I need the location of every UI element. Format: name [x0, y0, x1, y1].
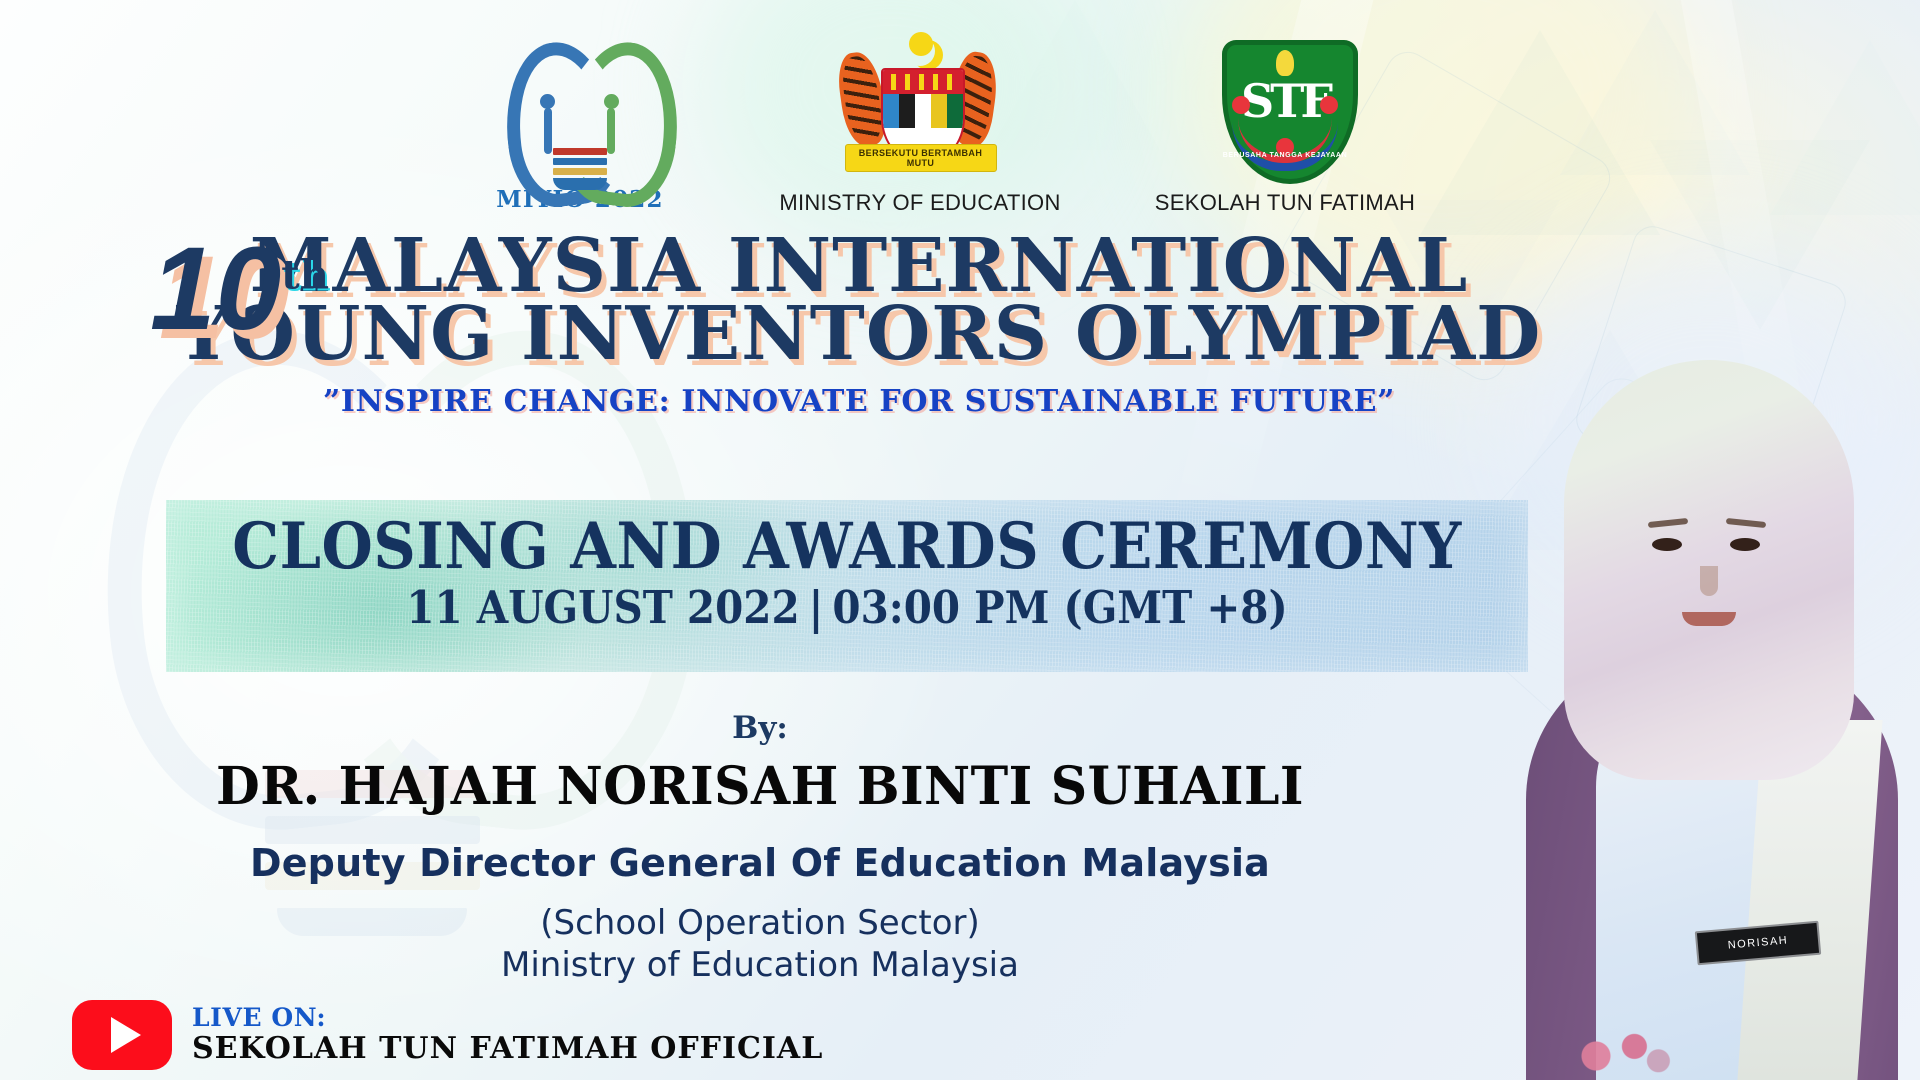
speaker-block: By: DR. HAJAH NORISAH BINTI SUHAILI Depu…	[0, 710, 1520, 985]
person-body-left	[544, 108, 552, 154]
edition-ordinal: 10th	[150, 230, 329, 348]
portrait-eye-right	[1730, 538, 1760, 551]
person-body-right	[607, 108, 615, 154]
crest-ribbon: BERSEKUTU BERTAMBAH MUTU	[845, 144, 997, 172]
play-triangle	[111, 1017, 141, 1053]
stf-flower-right	[1320, 96, 1338, 114]
person-head-right	[604, 94, 619, 109]
portrait-nametag-text: NORISAH	[1727, 934, 1788, 951]
crest-shield-bands	[883, 94, 963, 128]
crest-ribbon-text: BERSEKUTU BERTAMBAH MUTU	[846, 148, 996, 168]
edition-number: 10	[150, 223, 281, 355]
title-line-1: MALAYSIA INTERNATIONAL	[118, 232, 1600, 300]
speaker-by-label: By:	[0, 710, 1520, 746]
portrait-eye-left	[1652, 538, 1682, 551]
miyio-bulb-people-icon	[500, 36, 660, 186]
stf-flower-left	[1232, 96, 1250, 114]
stf-motto: BERUSAHA TANGGA KEJAYAAN	[1210, 152, 1360, 159]
stf-caption: SEKOLAH TUN FATIMAH	[1070, 190, 1500, 216]
ceremony-title: CLOSING AND AWARDS CEREMONY	[220, 514, 1473, 579]
main-title-block: 10th MALAYSIA INTERNATIONAL YOUNG INVENT…	[0, 232, 1600, 419]
portrait-brow-right	[1726, 518, 1766, 528]
speaker-portrait: NORISAH	[1500, 290, 1920, 1080]
edition-suffix: th	[281, 252, 329, 299]
youtube-play-icon[interactable]	[72, 1000, 172, 1070]
speaker-organisation: Ministry of Education Malaysia	[0, 945, 1520, 985]
sekolah-tun-fatimah-logo: STF BERUSAHA TANGGA KEJAYAAN SEKOLAH TUN…	[1070, 34, 1500, 216]
portrait-mouth	[1682, 612, 1736, 626]
portrait-face	[1626, 462, 1792, 678]
live-on-label: LIVE ON:	[192, 1004, 823, 1032]
ceremony-datetime: 11 AUGUST 2022|03:00 PM (GMT +8)	[234, 583, 1460, 633]
miyio-logo: MIYIO 2022	[480, 36, 680, 213]
ceremony-banner: CLOSING AND AWARDS CEREMONY 11 AUGUST 20…	[166, 500, 1528, 672]
portrait-brow-left	[1648, 518, 1688, 528]
portrait-nose	[1700, 566, 1718, 596]
speaker-name: DR. HAJAH NORISAH BINTI SUHAILI	[23, 756, 1497, 817]
event-poster: MIYIO 2022	[0, 0, 1920, 1080]
portrait-floral-accent	[1560, 1026, 1680, 1080]
ceremony-time: 03:00 PM (GMT +8)	[832, 581, 1287, 634]
crest-crescent	[905, 36, 935, 66]
person-head-left	[540, 94, 555, 109]
live-stream-block[interactable]: LIVE ON: SEKOLAH TUN FATIMAH OFFICIAL	[72, 1000, 823, 1070]
header-logo-row: MIYIO 2022	[0, 24, 1920, 239]
speaker-sector: (School Operation Sector)	[0, 903, 1520, 943]
ceremony-separator: |	[800, 583, 833, 633]
stf-flame	[1276, 50, 1294, 76]
live-channel-name: SEKOLAH TUN FATIMAH OFFICIAL	[192, 1032, 823, 1066]
malaysia-coat-of-arms-icon: BERSEKUTU BERTAMBAH MUTU	[833, 32, 1008, 184]
event-tagline: ”INSPIRE CHANGE: INNOVATE FOR SUSTAINABL…	[118, 384, 1600, 419]
speaker-role: Deputy Director General Of Education Mal…	[0, 841, 1520, 885]
title-line-2: YOUNG INVENTORS OLYMPIAD	[118, 300, 1600, 368]
bulb-base	[553, 148, 607, 193]
stf-shield-crest-icon: STF BERUSAHA TANGGA KEJAYAAN	[1210, 34, 1360, 184]
ceremony-date: 11 AUGUST 2022	[406, 581, 799, 634]
